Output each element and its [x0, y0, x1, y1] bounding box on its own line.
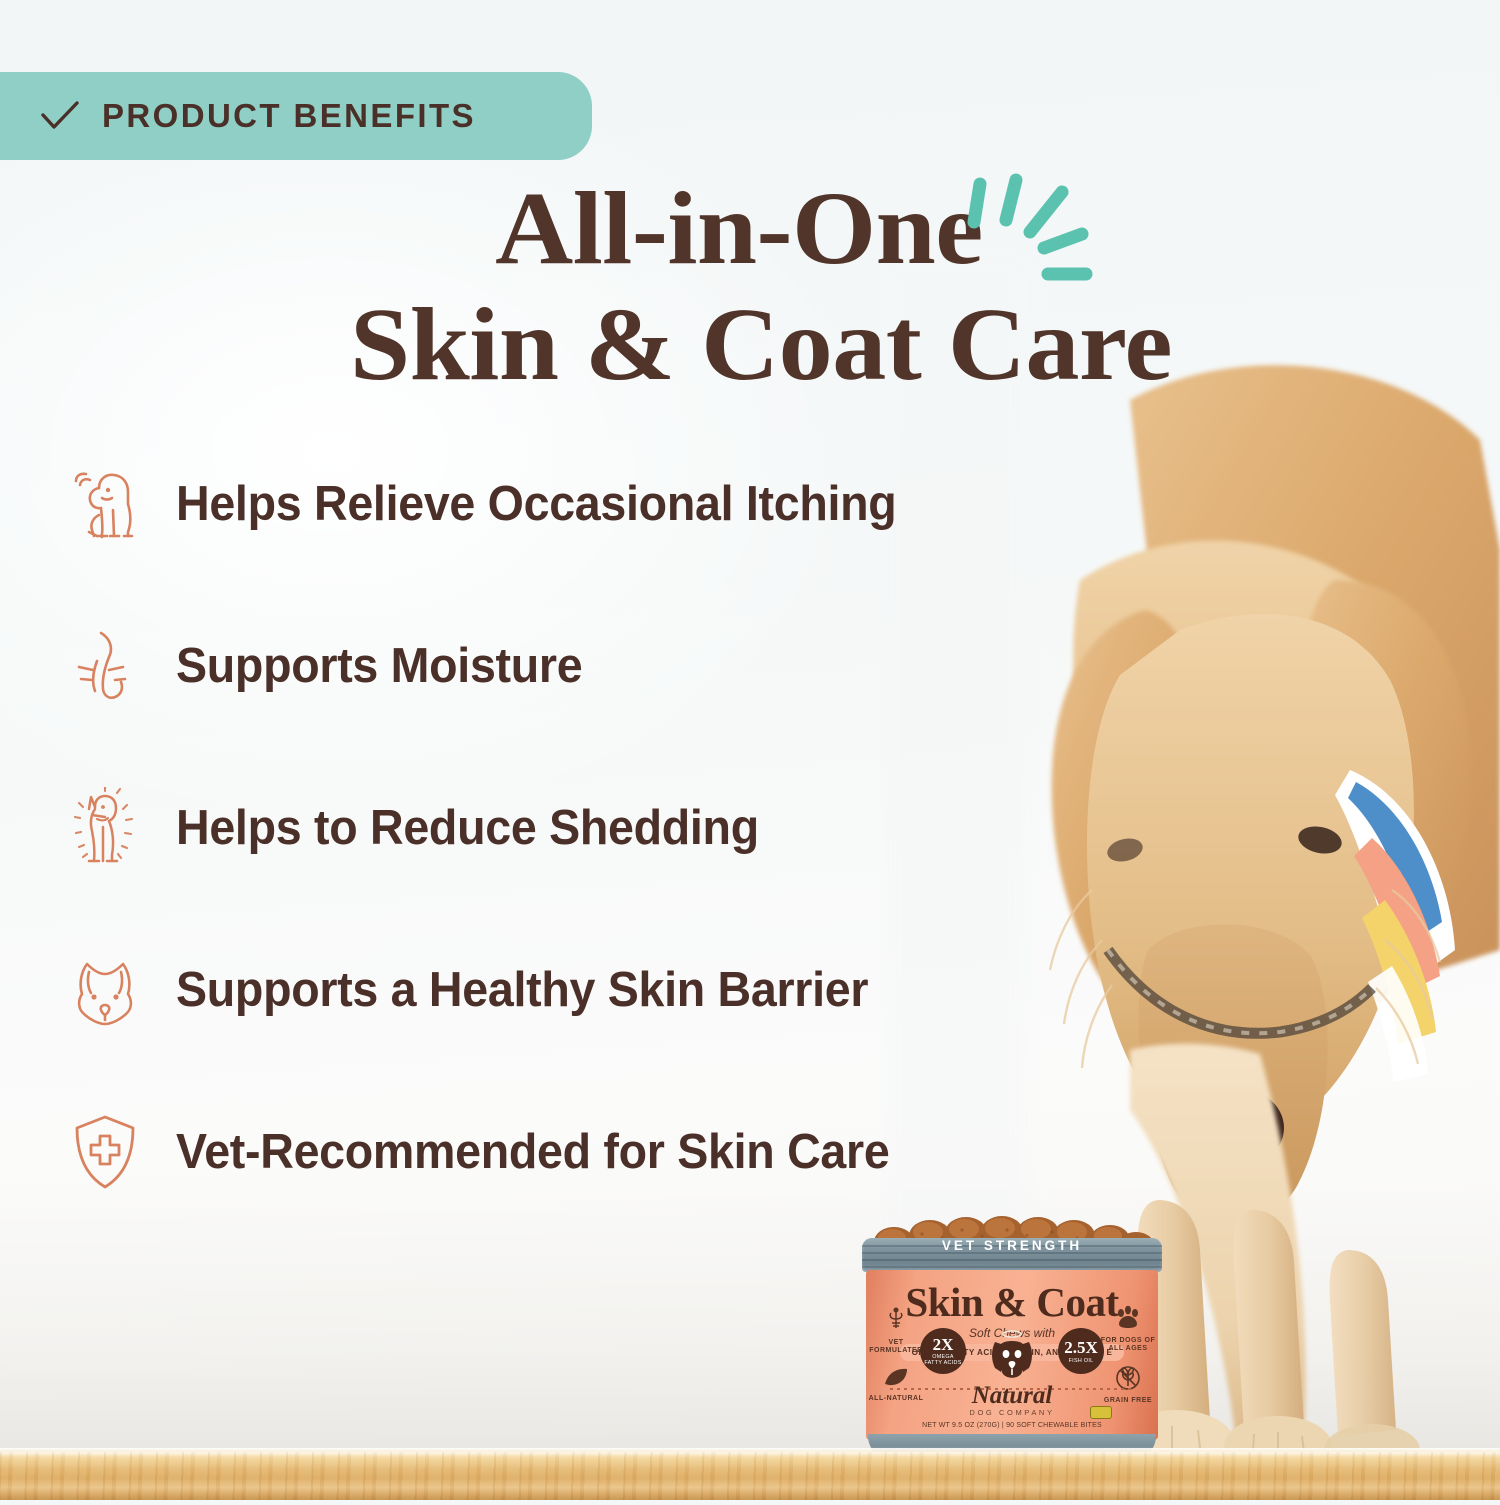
benefit-label: Helps Relieve Occasional Itching: [176, 476, 896, 532]
quality-seal-icon: [1090, 1406, 1112, 1419]
badge-fish-oil-value: 2.5X: [1064, 1338, 1098, 1358]
product-jar: VET STRENGTH Skin & Coat Soft Chews with…: [862, 1196, 1162, 1462]
brand-tagline: DOG COMPANY: [866, 1408, 1158, 1417]
badge-omega-2x: 2X OMEGA FATTY ACIDS: [914, 1328, 972, 1374]
wooden-floor: [0, 1452, 1500, 1500]
sparkle-icon: [958, 170, 1118, 310]
shield-cross-icon: [62, 1109, 148, 1195]
brand-dog-mascot: [981, 1328, 1043, 1387]
badge-fish-oil-2-5x: 2.5X FISH OIL: [1052, 1328, 1110, 1374]
benefit-label: Supports Moisture: [176, 638, 582, 694]
badge-label: PRODUCT BENEFITS: [102, 97, 476, 135]
benefit-label: Supports a Healthy Skin Barrier: [176, 962, 868, 1018]
shedding-dog-icon: [62, 785, 148, 871]
product-benefits-badge: PRODUCT BENEFITS: [0, 72, 592, 160]
scratching-dog-icon: [62, 461, 148, 547]
hair-follicle-icon: [62, 623, 148, 709]
benefit-label: Vet-Recommended for Skin Care: [176, 1124, 889, 1180]
benefit-row: Supports a Healthy Skin Barrier: [62, 938, 1082, 1042]
net-weight: NET WT 9.5 OZ (270G) | 90 SOFT CHEWABLE …: [866, 1422, 1158, 1429]
floor-grain: [0, 1452, 1500, 1500]
badge-fish-oil-label: FISH OIL: [1069, 1358, 1094, 1364]
check-icon: [40, 100, 80, 132]
badge-omega-2x-label: OMEGA FATTY ACIDS: [923, 1355, 963, 1367]
benefit-label: Helps to Reduce Shedding: [176, 800, 759, 856]
benefit-row: Vet-Recommended for Skin Care: [62, 1100, 1082, 1204]
jar-vet-strength: VET STRENGTH: [866, 1238, 1158, 1253]
benefits-list: Helps Relieve Occasional Itching Support…: [62, 452, 1082, 1262]
benefit-row: Helps to Reduce Shedding: [62, 776, 1082, 880]
benefit-row: Supports Moisture: [62, 614, 1082, 718]
brand-name: Natural: [866, 1382, 1158, 1410]
jar-label: VET STRENGTH Skin & Coat Soft Chews with…: [866, 1270, 1158, 1440]
badge-omega-2x-value: 2X: [933, 1335, 954, 1355]
benefit-row: Helps Relieve Occasional Itching: [62, 452, 1082, 556]
dog-face-icon: [62, 947, 148, 1033]
